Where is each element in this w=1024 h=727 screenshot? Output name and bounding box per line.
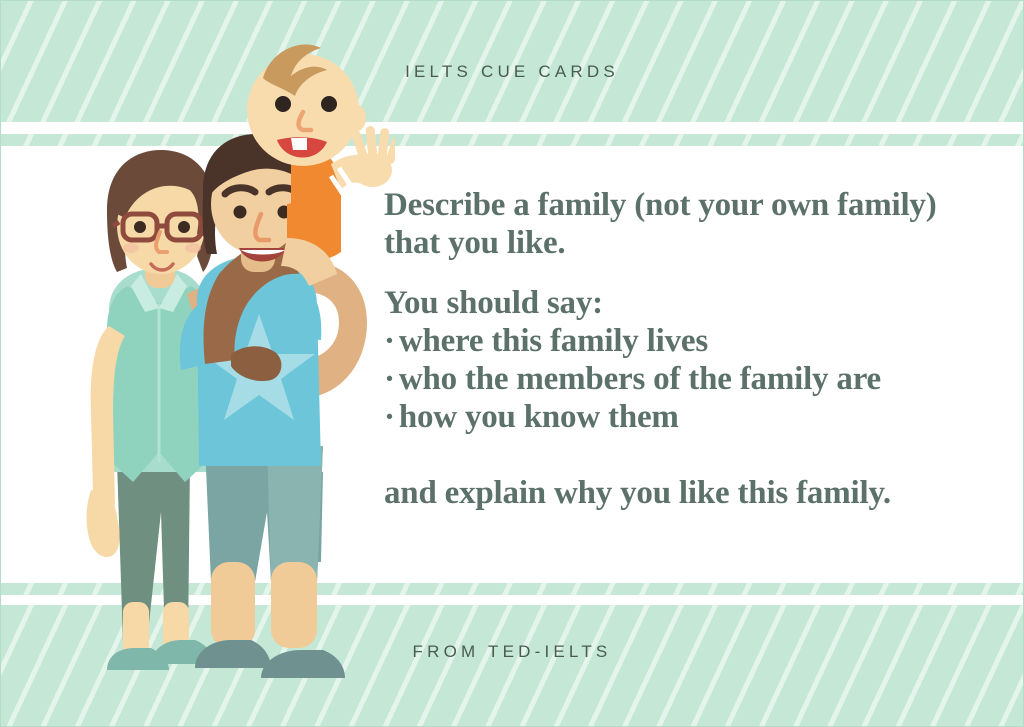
mother-blush-right	[185, 243, 201, 253]
father-left-eye	[234, 206, 247, 219]
prompt-bullet-item: ·where this family lives	[384, 322, 994, 360]
mother-left-eye	[134, 221, 146, 233]
father-shorts-light	[267, 446, 323, 582]
cue-card-prompt: Describe a family (not your own family) …	[384, 186, 994, 512]
bullet-dot-icon: ·	[384, 323, 395, 359]
bullet-dot-icon: ·	[384, 361, 395, 397]
father-right-leg	[271, 562, 317, 648]
card-kicker-bottom: FROM TED-IELTS	[0, 642, 1024, 662]
mother-right-eye	[178, 221, 190, 233]
prompt-bullet-item: ·how you know them	[384, 398, 994, 436]
prompt-bullet-text: who the members of the family are	[399, 361, 881, 397]
prompt-question: Describe a family (not your own family) …	[384, 186, 994, 262]
baby-ear	[344, 104, 366, 132]
cue-card: IELTS CUE CARDS Describe a family (not y…	[0, 0, 1024, 727]
prompt-bullet-text: how you know them	[399, 399, 679, 435]
baby-right-eye	[321, 96, 337, 112]
prompt-closing: and explain why you like this family.	[384, 474, 994, 512]
baby-teeth	[291, 138, 307, 150]
bullet-dot-icon: ·	[384, 399, 395, 435]
father-left-leg	[211, 562, 255, 648]
family-illustration	[55, 42, 395, 687]
baby-left-eye	[275, 96, 291, 112]
prompt-bullet-item: ·who the members of the family are	[384, 360, 994, 398]
prompt-bullet-text: where this family lives	[399, 323, 708, 359]
mother-blush-left	[123, 243, 139, 253]
prompt-lead-in: You should say:	[384, 284, 994, 322]
card-kicker-top: IELTS CUE CARDS	[0, 62, 1024, 82]
